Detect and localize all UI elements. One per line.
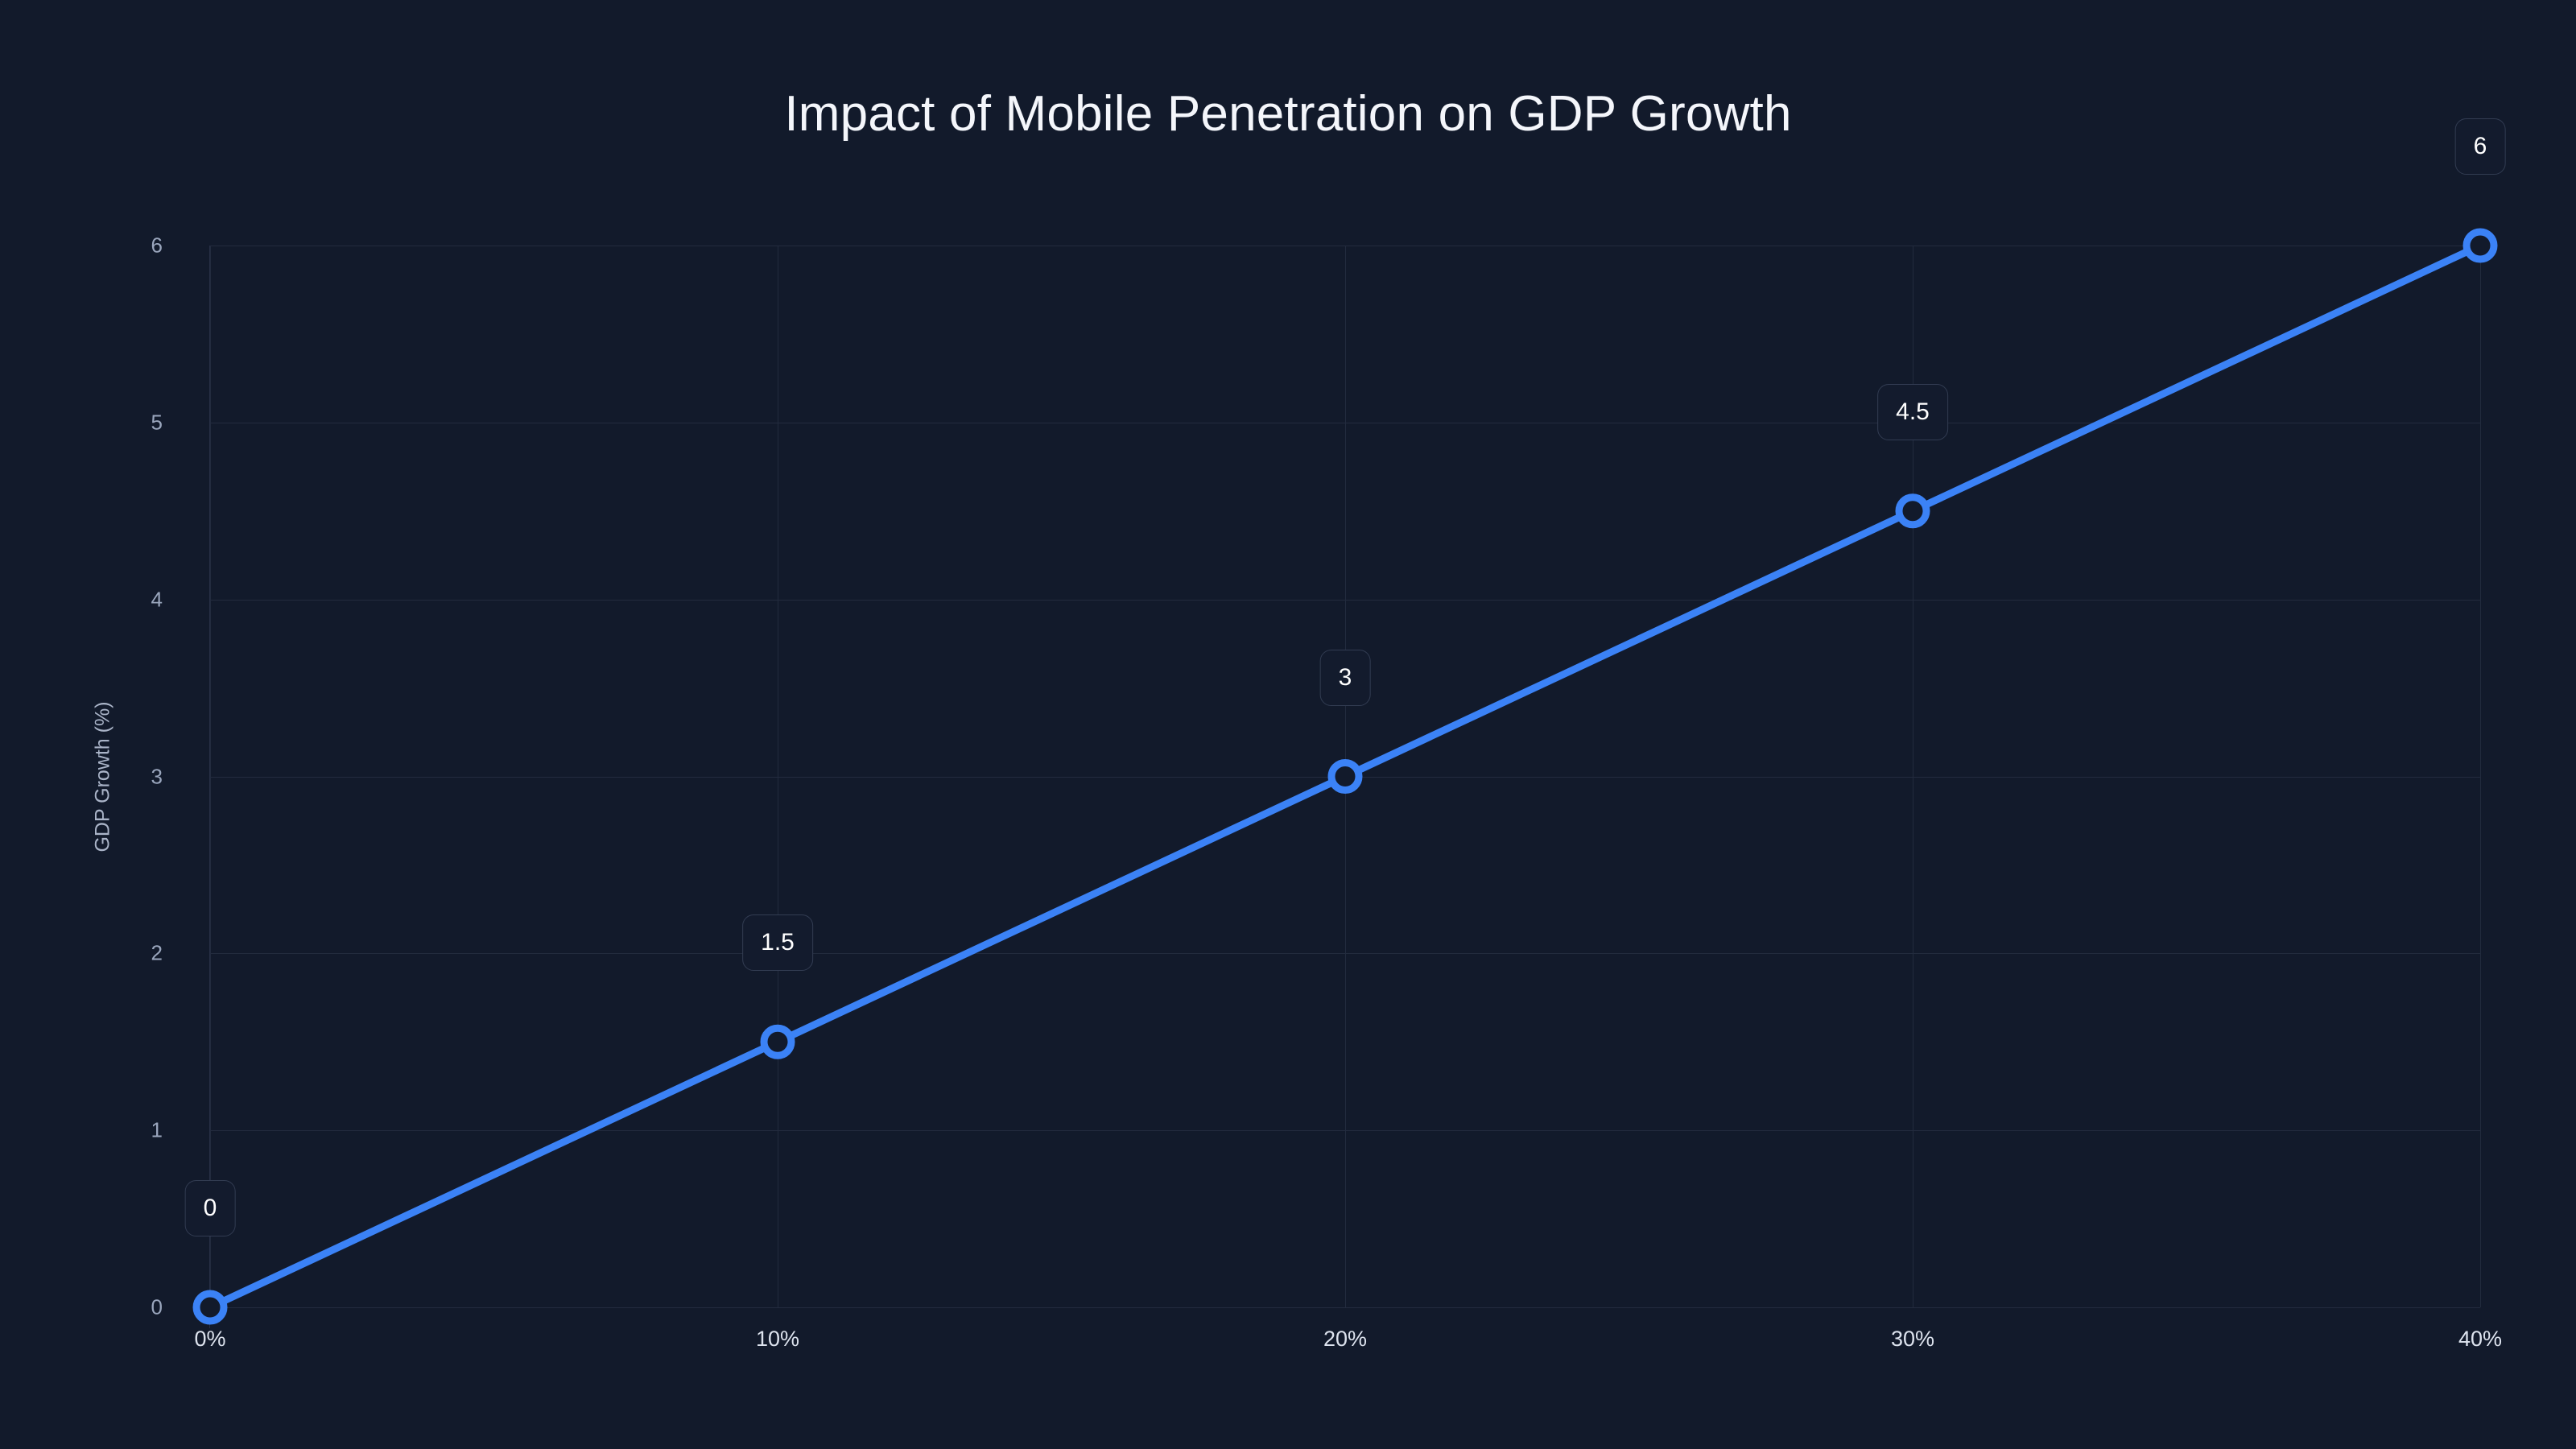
plot-area (210, 246, 2480, 1307)
gridline-vertical (210, 246, 211, 1307)
y-axis-tick-label: 4 (0, 587, 179, 612)
data-point-value-badge: 6 (2455, 118, 2506, 175)
y-axis-tick-label: 3 (0, 764, 179, 789)
y-axis-tick-label: 6 (0, 233, 179, 258)
data-point-value-badge: 4.5 (1877, 384, 1948, 440)
x-axis-tick-label: 10% (756, 1327, 799, 1352)
data-point-value-badge: 0 (185, 1180, 236, 1236)
x-axis-tick-label: 0% (194, 1327, 225, 1352)
y-axis-tick-label: 1 (0, 1118, 179, 1143)
chart-title: Impact of Mobile Penetration on GDP Grow… (0, 87, 2576, 142)
gridline-vertical (2480, 246, 2481, 1307)
y-axis-tick-label: 2 (0, 941, 179, 966)
x-axis-tick-label: 40% (2458, 1327, 2502, 1352)
y-axis-tick-label: 5 (0, 410, 179, 435)
gridline-vertical (1345, 246, 1346, 1307)
data-point-value-badge: 1.5 (742, 914, 813, 971)
y-axis-title: GDP Growth (%) (92, 701, 115, 852)
x-axis-tick-label: 20% (1323, 1327, 1367, 1352)
gridline-vertical (778, 246, 778, 1307)
gridline-horizontal (210, 1307, 2480, 1308)
data-point-value-badge: 3 (1320, 650, 1371, 706)
y-axis-tick-label: 0 (0, 1295, 179, 1320)
chart-container: Impact of Mobile Penetration on GDP Grow… (0, 0, 2576, 1449)
x-axis-tick-label: 30% (1891, 1327, 1934, 1352)
